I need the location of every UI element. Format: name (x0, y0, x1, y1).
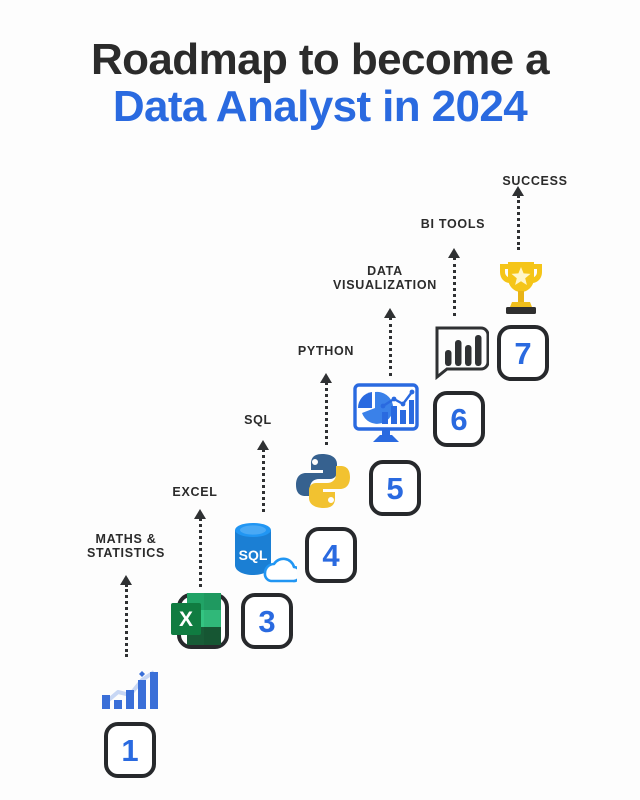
step-number-box-5[interactable]: 5 (369, 460, 421, 516)
roadmap-infographic: Roadmap to become a Data Analyst in 2024… (0, 0, 640, 800)
step-number-label-6: 6 (450, 404, 467, 435)
step-arrow-7 (512, 186, 524, 250)
step-number-label-1: 1 (121, 735, 138, 766)
step-number-box-4[interactable]: 4 (305, 527, 357, 583)
step-label-7: SUCCESS (460, 174, 610, 188)
svg-text:SQL: SQL (239, 547, 268, 563)
step-number-box-6[interactable]: 6 (433, 391, 485, 447)
step-number-label-4: 4 (322, 540, 339, 571)
step-arrow-4 (320, 373, 332, 445)
trophy-icon (492, 256, 550, 316)
step-number-label-7: 7 (514, 338, 531, 369)
step-arrow-6 (448, 248, 460, 316)
svg-text:X: X (179, 608, 193, 631)
step-arrow-5 (384, 308, 396, 376)
step-arrow-1 (120, 575, 132, 657)
step-number-label-5: 5 (386, 473, 403, 504)
step-number-box-1[interactable]: 1 (104, 722, 156, 778)
power-bi-icon (429, 322, 489, 380)
page-title: Roadmap to become a Data Analyst in 2024 (0, 36, 640, 130)
microsoft-excel-icon: X (167, 589, 225, 649)
step-label-3: SQL (216, 413, 300, 427)
title-line-secondary: Data Analyst in 2024 (0, 83, 640, 130)
title-line-primary: Roadmap to become a (0, 36, 640, 83)
step-arrow-2 (194, 509, 206, 587)
step-number-box-3[interactable]: 3 (241, 593, 293, 649)
step-label-5: DATA VISUALIZATION (310, 264, 460, 293)
python-logo-icon (292, 450, 354, 512)
step-label-4: PYTHON (278, 344, 374, 358)
step-arrow-3 (257, 440, 269, 512)
step-label-1: MATHS & STATISTICS (66, 532, 186, 561)
sql-database-cloud-icon: SQL (229, 517, 297, 583)
step-number-box-7[interactable]: 7 (497, 325, 549, 381)
step-label-2: EXCEL (149, 485, 241, 499)
step-number-label-3: 3 (258, 606, 275, 637)
data-visualization-monitor-icon (352, 382, 420, 446)
step-label-6: BI TOOLS (398, 217, 508, 231)
bar-chart-statistics-icon (98, 662, 160, 714)
